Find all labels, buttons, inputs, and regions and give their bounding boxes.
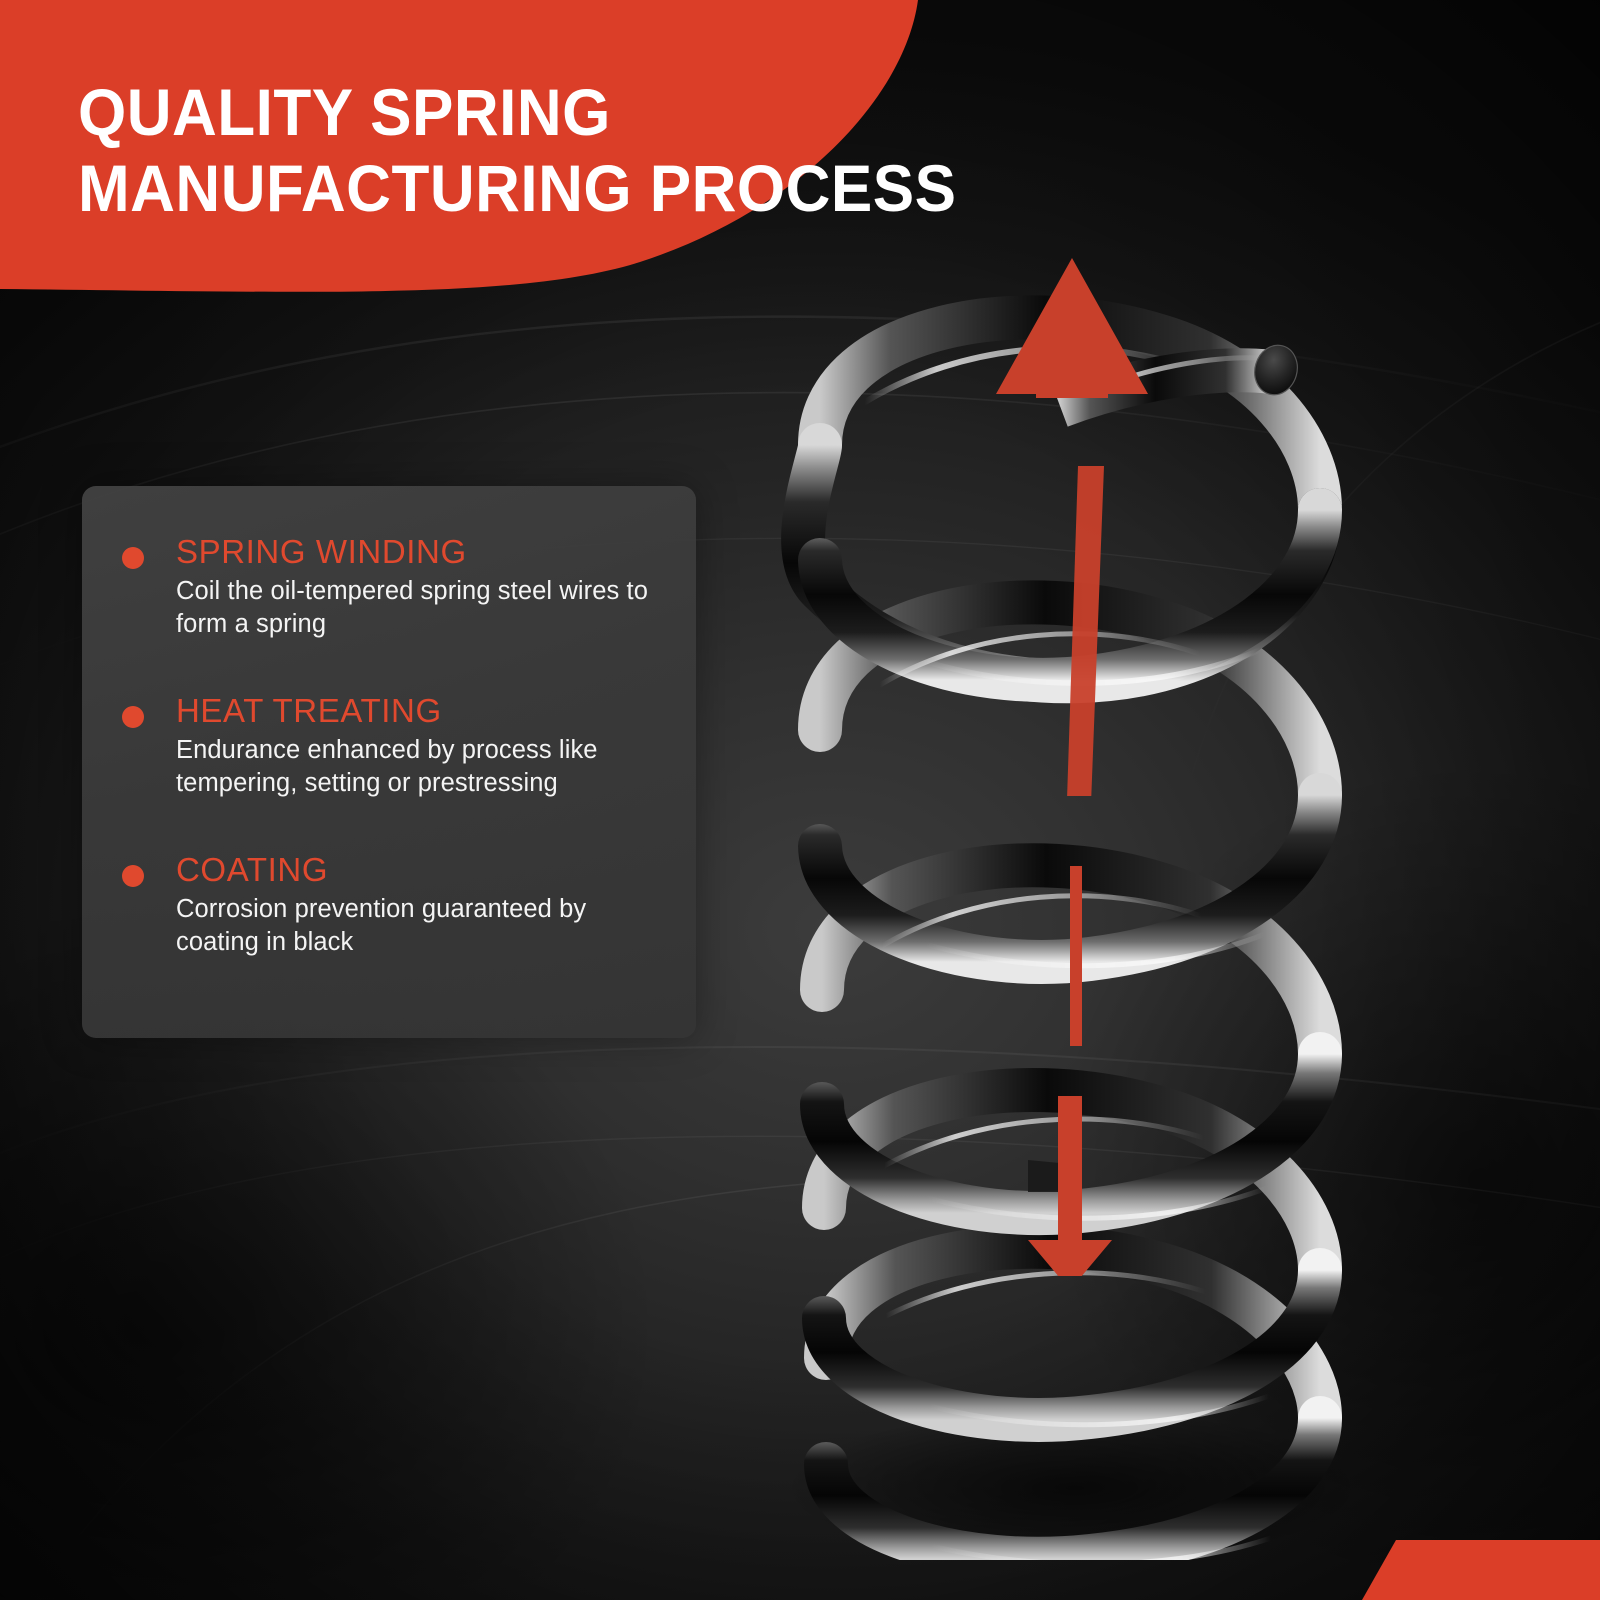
step-title: HEAT TREATING: [176, 691, 676, 731]
step-description: Corrosion prevention guaranteed by coati…: [176, 893, 676, 959]
bullet-dot-icon: [122, 865, 144, 887]
bullet-dot-icon: [122, 706, 144, 728]
bullet-dot-icon: [122, 547, 144, 569]
list-item: HEAT TREATING Endurance enhanced by proc…: [122, 691, 676, 800]
process-steps-panel: SPRING WINDING Coil the oil-tempered spr…: [82, 486, 696, 1038]
list-item: SPRING WINDING Coil the oil-tempered spr…: [122, 532, 676, 641]
step-description: Endurance enhanced by process like tempe…: [176, 734, 676, 800]
product-infographic: QUALITY SPRING MANUFACTURING PROCESS: [0, 0, 1600, 1600]
step-description: Coil the oil-tempered spring steel wires…: [176, 575, 676, 641]
step-title: SPRING WINDING: [176, 532, 676, 572]
step-title: COATING: [176, 850, 676, 890]
process-steps-list: SPRING WINDING Coil the oil-tempered spr…: [122, 532, 676, 959]
list-item: COATING Corrosion prevention guaranteed …: [122, 850, 676, 959]
